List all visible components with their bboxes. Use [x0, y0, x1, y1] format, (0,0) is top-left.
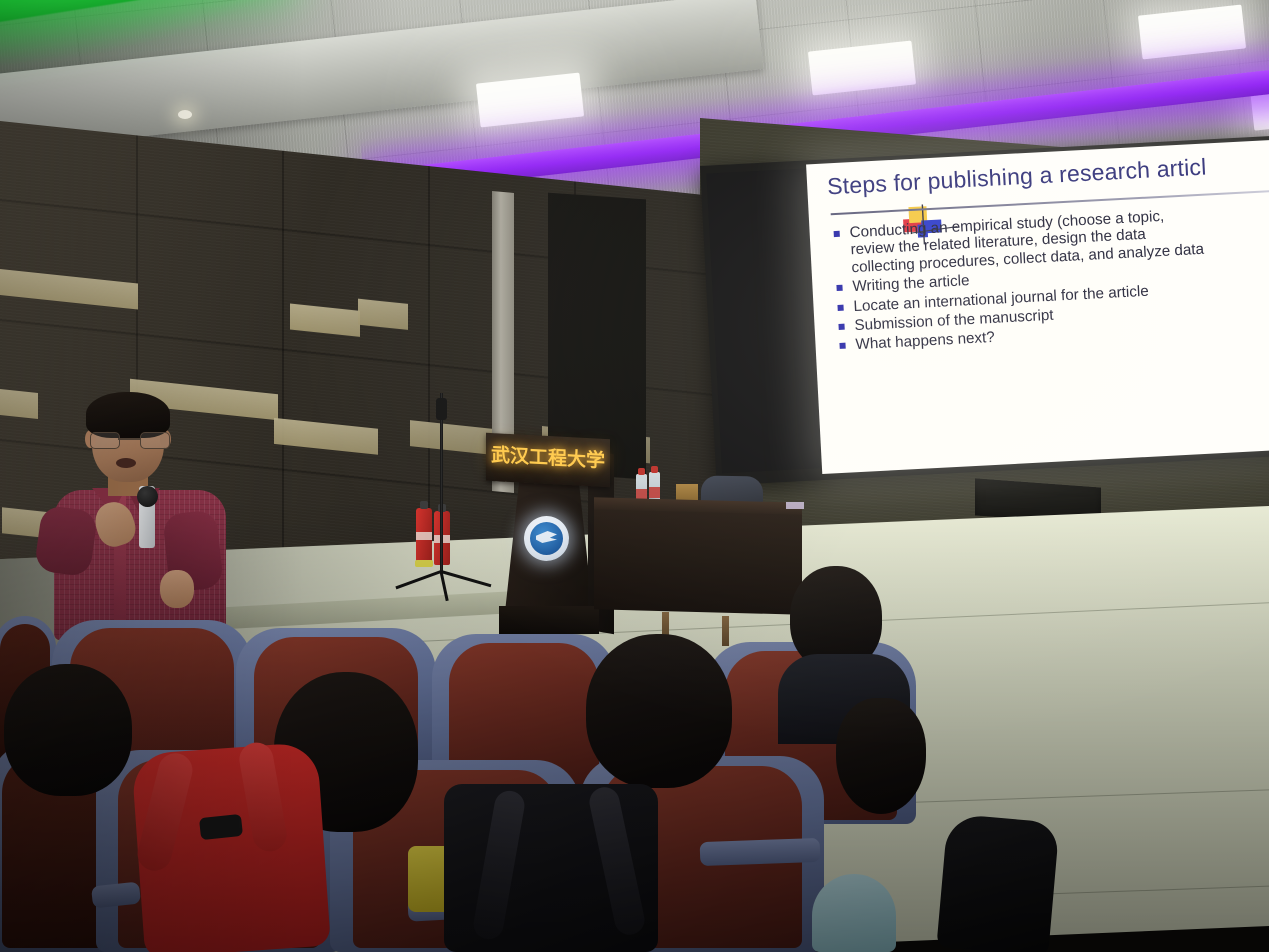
presenter-mouth [116, 458, 136, 468]
slide-content: Steps for publishing a research articl C… [806, 140, 1269, 474]
projection-screen[interactable]: Steps for publishing a research articl C… [700, 136, 1269, 486]
extinguisher-base [415, 560, 433, 567]
eyeglass-lens [140, 432, 170, 449]
slide-bullet-list: Conducting an empirical study (choose a … [827, 202, 1269, 357]
microphone-head [137, 486, 158, 507]
presenter-mic-hand [160, 570, 194, 608]
extinguisher-label [416, 532, 432, 540]
university-emblem [524, 516, 569, 561]
light-blue-clothing [812, 874, 896, 952]
podium-university-sign: 武汉工程大学 [488, 437, 608, 475]
ceiling-spot-light [178, 110, 192, 119]
seat-armrest [700, 838, 821, 866]
microphone-stand-clip [436, 398, 447, 420]
podium-base [499, 606, 599, 634]
audience-head [586, 634, 732, 788]
audience-head [836, 698, 926, 814]
eyeglasses-icon [90, 432, 168, 447]
eyeglass-bridge [118, 438, 140, 440]
lecture-hall-photo: Steps for publishing a research articl C… [0, 0, 1269, 952]
black-backpack-on-floor [936, 813, 1059, 952]
university-emblem-mark [530, 522, 563, 555]
fire-extinguisher [416, 508, 432, 562]
slide-title: Steps for publishing a research articl [827, 154, 1208, 201]
desk-indicator-light [786, 502, 804, 509]
presenter-table-front [594, 509, 802, 614]
backpack-buckle [199, 814, 243, 840]
eyeglass-lens [90, 432, 120, 449]
projected-slide: Steps for publishing a research articl C… [806, 140, 1269, 474]
microphone-stand-pole [440, 393, 443, 573]
audience-head [4, 664, 132, 796]
screen-unlit-area [706, 168, 822, 473]
